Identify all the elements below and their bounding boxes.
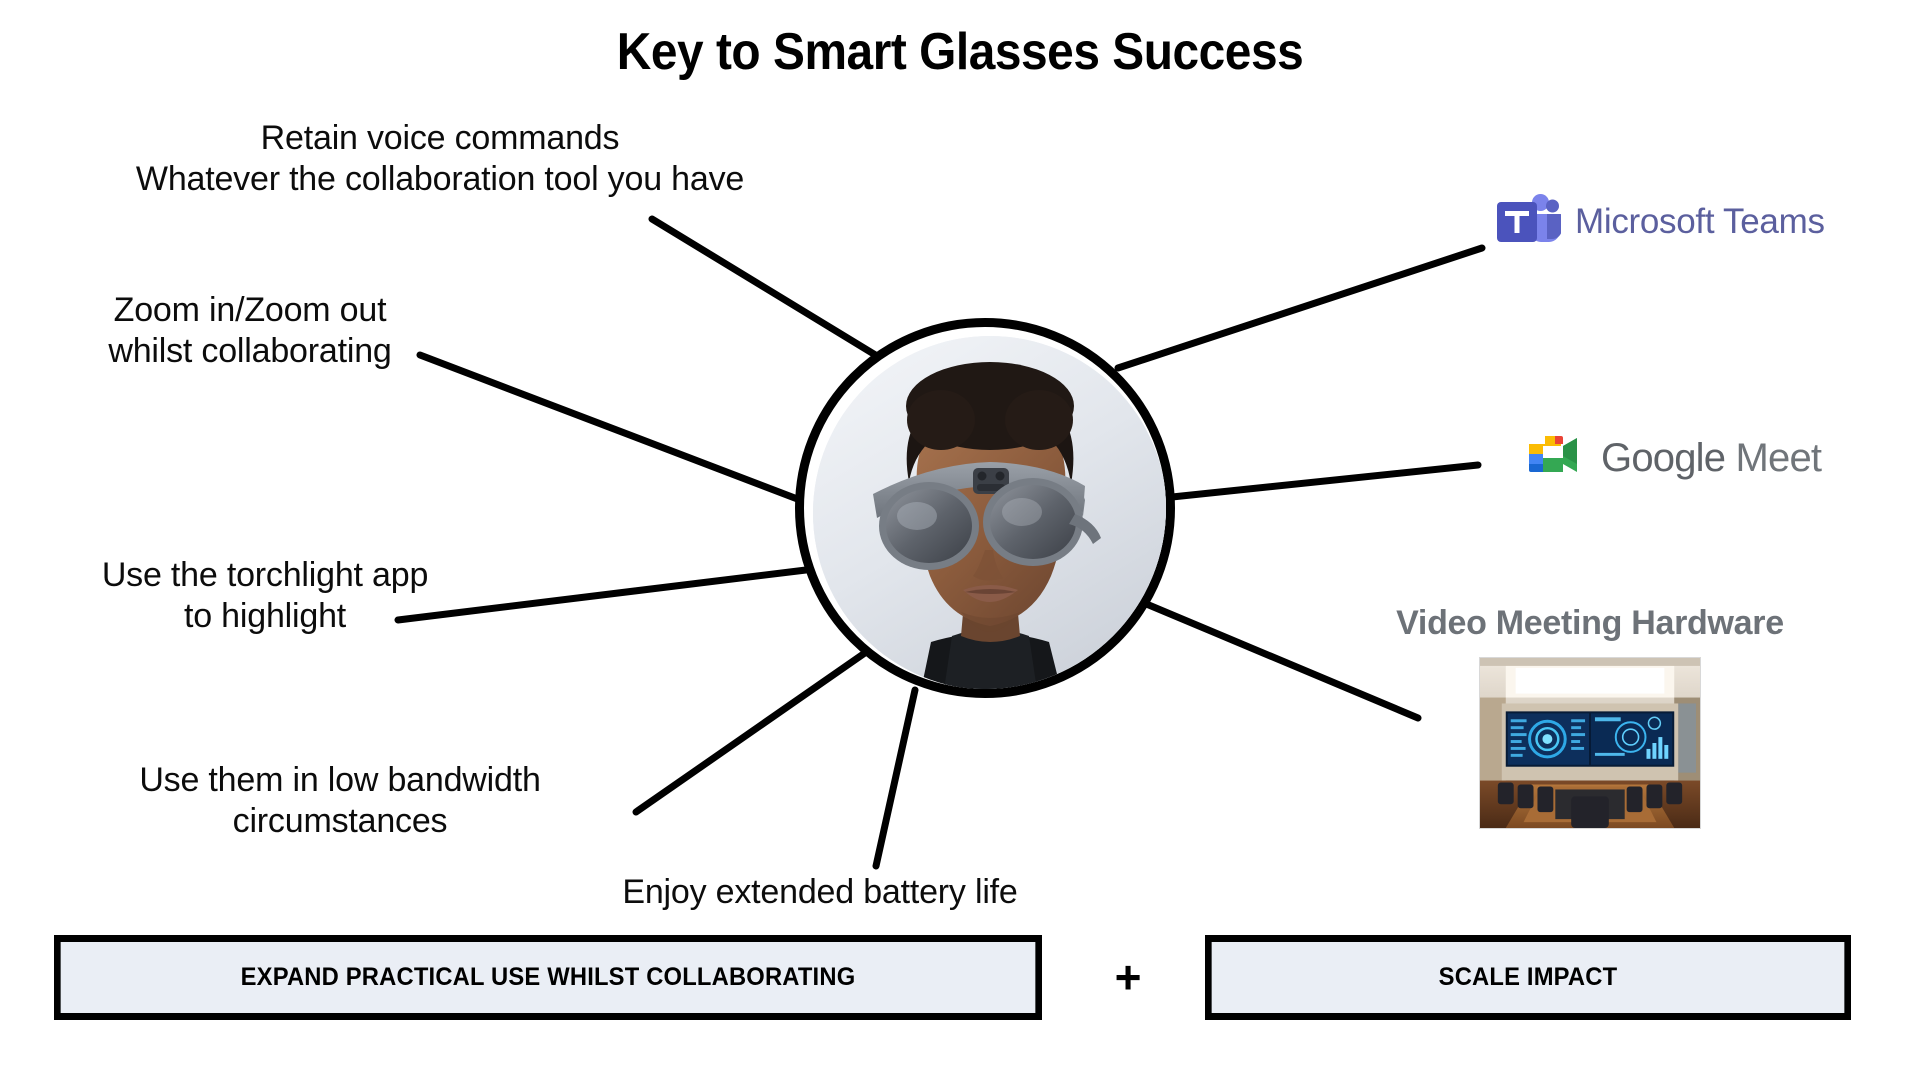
connector-bandwidth	[636, 648, 872, 812]
hardware-title: Video Meeting Hardware	[1330, 604, 1850, 643]
label-voice-commands: Retain voice commands Whatever the colla…	[40, 118, 840, 201]
label-zoom-in-out: Zoom in/Zoom out whilst collaborating	[40, 290, 460, 373]
label-battery-life: Enjoy extended battery life	[520, 872, 1120, 913]
bottom-summary-row: EXPAND PRACTICAL USE WHILST COLLABORATIN…	[0, 932, 1920, 1022]
banner-expand-practical-use[interactable]: EXPAND PRACTICAL USE WHILST COLLABORATIN…	[54, 935, 1042, 1020]
google-meet-icon	[1525, 432, 1583, 485]
video-meeting-hardware-block: Video Meeting Hardware	[1330, 604, 1850, 829]
center-photo	[813, 336, 1167, 690]
microsoft-teams-label: Microsoft Teams	[1575, 202, 1825, 242]
connector-meet	[1172, 465, 1478, 497]
google-meet-label: Google Meet	[1601, 436, 1821, 481]
label-torchlight: Use the torchlight app to highlight	[40, 555, 490, 638]
google-meet-logo: Google Meet	[1525, 432, 1821, 485]
connector-teams	[1118, 248, 1482, 368]
connector-voice-commands	[652, 219, 905, 373]
plus-separator-icon: +	[1068, 954, 1188, 1000]
conference-room-photo	[1479, 657, 1701, 829]
infographic-canvas: Key to Smart Glasses Success	[0, 0, 1920, 1080]
banner-scale-impact[interactable]: SCALE IMPACT	[1205, 935, 1851, 1020]
google-meet-label-primary: Google	[1601, 436, 1725, 480]
center-smart-glasses-node	[795, 318, 1175, 698]
page-title: Key to Smart Glasses Success	[77, 22, 1843, 82]
microsoft-teams-icon	[1495, 192, 1561, 251]
label-low-bandwidth: Use them in low bandwidth circumstances	[60, 760, 620, 843]
google-meet-label-secondary: Meet	[1736, 436, 1822, 480]
connector-zoom	[420, 355, 800, 500]
microsoft-teams-logo: Microsoft Teams	[1495, 192, 1825, 251]
connector-battery	[876, 690, 915, 866]
